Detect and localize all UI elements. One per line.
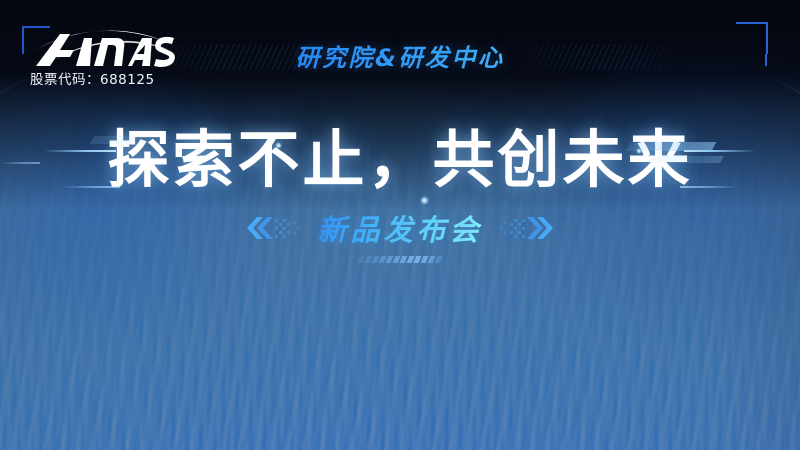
segmented-bar-icon [358, 256, 443, 263]
double-chevron-right-icon [495, 215, 557, 241]
light-slab-left [90, 136, 158, 144]
light-streak-left-3 [0, 162, 40, 164]
department-title: 研究院&研发中心 [0, 38, 800, 73]
light-streak-left-2 [62, 186, 120, 188]
light-streak-left-1 [44, 150, 116, 152]
sparkle-icon-1 [275, 142, 282, 149]
sparkle-icon-2 [420, 196, 429, 205]
presentation-slide: 股票代码：688125 研究院&研发中心 研究院&研发中心 探索不止，共创未来 [0, 0, 800, 450]
hero-subtitle-zone: 新品发布会 新品发布会 [0, 206, 800, 250]
sparkle-icon-3 [636, 148, 642, 154]
double-chevron-left-icon [243, 215, 305, 241]
light-slab-right-2 [650, 156, 724, 163]
light-streak-right-2 [680, 186, 738, 188]
page-subtitle: 新品发布会 [317, 213, 482, 247]
